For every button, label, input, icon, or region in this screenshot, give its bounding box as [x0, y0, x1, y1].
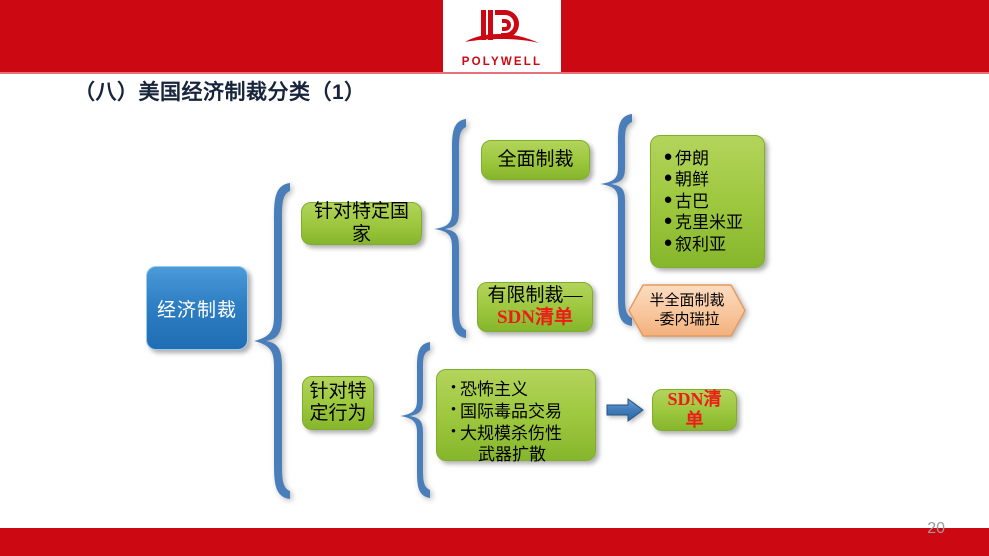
node-conduct-specific-line1: 针对特	[309, 381, 366, 402]
conduct-label: 大规模杀伤性 武器扩散	[460, 423, 562, 467]
list-item: ● 伊朗	[661, 148, 743, 169]
node-economic-sanctions-label: 经济制裁	[157, 295, 237, 322]
bullet-icon: ●	[661, 191, 675, 211]
node-conduct-specific-label: 针对特 定行为	[303, 379, 372, 428]
page-title: （八）美国经济制裁分类（1）	[74, 76, 366, 106]
node-sdn-list-result-label: SDN清单	[653, 387, 736, 433]
half-comprehensive-line2: -委内瑞拉	[655, 311, 720, 329]
conduct-line2: 武器扩散	[460, 444, 562, 466]
country-label: 叙利亚	[675, 234, 726, 255]
half-comprehensive-line1: 半全面制裁	[649, 292, 724, 310]
node-targeted-conduct-list[interactable]: • 恐怖主义 • 国际毒品交易 • 大规模杀伤性 武器扩散	[436, 369, 596, 461]
list-item: • 恐怖主义	[447, 379, 562, 401]
bullet-icon: ●	[661, 212, 675, 232]
brace-conduct-branch	[398, 340, 432, 500]
brace-root-to-branches	[252, 181, 292, 501]
list-item: ● 克里米亚	[661, 212, 743, 233]
node-half-comprehensive-label: 半全面制裁 -委内瑞拉	[627, 283, 747, 338]
country-label: 伊朗	[675, 148, 709, 169]
node-limited-sanctions-line1: 有限制裁—	[487, 285, 582, 306]
country-label: 克里米亚	[675, 212, 743, 233]
brace-country-branch	[432, 117, 468, 340]
brand-name: POLYWELL	[462, 56, 542, 68]
conduct-label: 恐怖主义	[460, 379, 528, 401]
node-sanctioned-country-list[interactable]: ● 伊朗 ● 朝鲜 ● 古巴 ● 克里米亚 ● 叙利亚	[650, 135, 765, 268]
targeted-conduct-items: • 恐怖主义 • 国际毒品交易 • 大规模杀伤性 武器扩散	[447, 379, 562, 466]
node-sdn-list-result[interactable]: SDN清单	[652, 389, 737, 431]
sanctioned-country-items: ● 伊朗 ● 朝鲜 ● 古巴 ● 克里米亚 ● 叙利亚	[661, 148, 743, 255]
node-half-comprehensive-sanctions[interactable]: 半全面制裁 -委内瑞拉	[627, 283, 747, 338]
polywell-p-logo-icon	[463, 6, 541, 55]
node-comprehensive-sanctions-label: 全面制裁	[491, 147, 579, 173]
brand-logo: POLYWELL	[443, 2, 561, 72]
header-underline	[0, 72, 989, 74]
list-item: ● 古巴	[661, 191, 743, 212]
node-limited-sanctions[interactable]: 有限制裁— SDN清单	[477, 282, 593, 332]
bullet-icon: ●	[661, 234, 675, 254]
node-country-specific-label: 针对特定国家	[302, 199, 421, 248]
right-arrow-icon	[606, 398, 644, 422]
list-item: ● 叙利亚	[661, 234, 743, 255]
country-label: 古巴	[675, 191, 709, 212]
list-item: • 大规模杀伤性 武器扩散	[447, 423, 562, 467]
conduct-line1: 恐怖主义	[460, 380, 528, 399]
country-label: 朝鲜	[675, 169, 709, 190]
conduct-line1: 大规模杀伤性	[460, 424, 562, 443]
bullet-icon: •	[447, 423, 460, 443]
list-item: • 国际毒品交易	[447, 401, 562, 423]
conduct-line1: 国际毒品交易	[460, 402, 562, 421]
node-conduct-specific-line2: 定行为	[309, 403, 366, 424]
bullet-icon: ●	[661, 169, 675, 189]
list-item: ● 朝鲜	[661, 169, 743, 190]
conduct-label: 国际毒品交易	[460, 401, 562, 423]
node-comprehensive-sanctions[interactable]: 全面制裁	[481, 140, 590, 180]
node-limited-sanctions-label: 有限制裁— SDN清单	[481, 283, 588, 332]
node-conduct-specific[interactable]: 针对特 定行为	[302, 376, 374, 430]
slide-footer-bar	[0, 528, 989, 556]
page-number: 20	[927, 520, 945, 538]
node-economic-sanctions[interactable]: 经济制裁	[146, 266, 248, 350]
node-country-specific[interactable]: 针对特定国家	[301, 202, 422, 245]
bullet-icon: •	[447, 401, 460, 421]
bullet-icon: ●	[661, 148, 675, 168]
node-limited-sanctions-line2: SDN清单	[497, 307, 573, 328]
bullet-icon: •	[447, 379, 460, 399]
